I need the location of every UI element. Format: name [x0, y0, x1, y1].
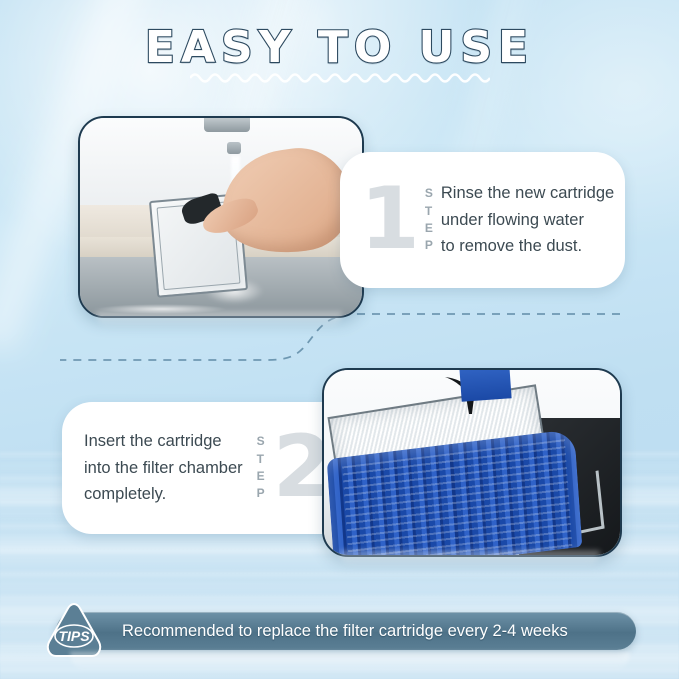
step-2-line-2: into the filter chamber [84, 455, 243, 482]
infographic-canvas: EASY TO USE 1 S T E P [0, 0, 679, 679]
basket-handle-tab [459, 368, 513, 401]
step-2-photo-reflection [340, 551, 600, 567]
step-1-card: 1 S T E P Rinse the new cartridge under … [340, 152, 625, 288]
step-1-photo-reflection [96, 312, 342, 328]
tips-text: Recommended to replace the filter cartri… [122, 612, 622, 650]
step-2-line-3: completely. [84, 481, 243, 508]
page-title: EASY TO USE [145, 22, 534, 73]
step-1-number: 1 [360, 183, 418, 257]
step-1-word: S T E P [425, 185, 434, 255]
step-2-letter-e: E [257, 468, 266, 485]
tips-banner-reflection [70, 652, 630, 672]
tips-badge-label: TIPS [58, 628, 90, 644]
step-1-letter-e: E [425, 220, 434, 237]
step-1-line-2: under flowing water [441, 207, 614, 234]
step-1-line-1: Rinse the new cartridge [441, 180, 614, 207]
tips-banner: Recommended to replace the filter cartri… [56, 612, 636, 650]
step-1-photo [78, 116, 364, 318]
page-title-block: EASY TO USE [0, 22, 679, 73]
step-1-letter-s: S [425, 185, 434, 202]
step-2-photo [322, 368, 622, 557]
step-1-letter-p: P [425, 237, 434, 254]
step-2-letter-t: T [257, 451, 266, 468]
step-2-card: Insert the cartridge into the filter cha… [62, 402, 352, 534]
step-1-text: Rinse the new cartridge under flowing wa… [441, 180, 614, 260]
title-wave-underline [190, 68, 490, 84]
step-2-letter-s: S [257, 433, 266, 450]
step-1-letter-t: T [425, 203, 434, 220]
step-2-letter-p: P [257, 485, 266, 502]
faucet-spout [227, 142, 241, 154]
step-2-line-1: Insert the cartridge [84, 428, 243, 455]
basket-mesh-texture [342, 440, 572, 557]
step-2-text: Insert the cartridge into the filter cha… [84, 428, 243, 508]
faucet-icon [204, 116, 250, 132]
step-1-line-3: to remove the dust. [441, 233, 614, 260]
step-2-word: S T E P [257, 433, 266, 503]
